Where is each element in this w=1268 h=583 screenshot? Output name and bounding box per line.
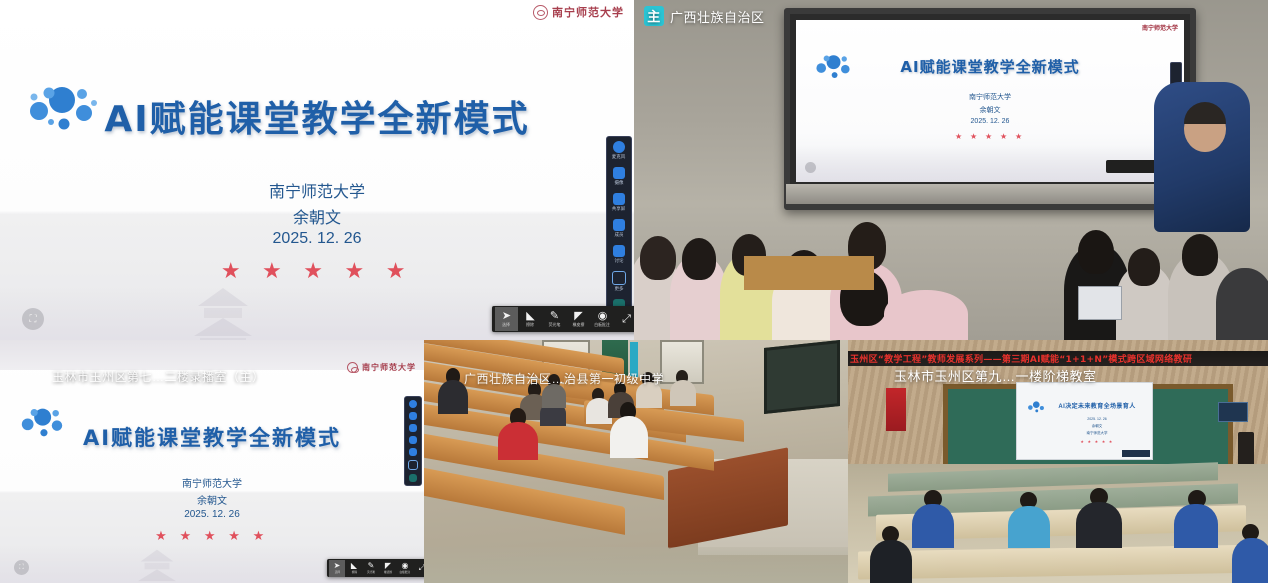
screen-dots-icon [1025, 399, 1047, 415]
record-icon: ◉ [402, 562, 409, 570]
classroom-tiers [848, 464, 1268, 583]
panel-remote-classroom-main[interactable]: 南宁师范大学 AI赋能课堂教学全新模式 南宁师范大学 余朝文 2025. 12.… [634, 0, 1268, 340]
seal-icon [347, 362, 358, 373]
rail-item-members[interactable]: 成员 [613, 219, 625, 238]
tool-cursor[interactable]: ➤ 选择 [495, 307, 518, 331]
seal-icon [533, 5, 548, 20]
audience-area [634, 208, 1268, 340]
highlighter-icon: ◤ [385, 562, 391, 570]
screen-slide-title: AI决定未来教育全场景育人 [1047, 401, 1147, 410]
tool-highlighter[interactable]: ◤ 橡皮擦 [567, 307, 590, 331]
rail-item-video[interactable] [409, 412, 417, 420]
video-icon [613, 167, 625, 179]
rail-item-mic[interactable] [409, 400, 417, 408]
equipment-box [1078, 286, 1122, 320]
panel-label-text: 玉林市玉州区第九…一楼阶梯教室 [894, 366, 1097, 385]
panel-main-presentation[interactable]: 南宁师范大学 AI赋能课堂教学全新模式 南宁师范大学 余朝文 2025. 12.… [0, 0, 634, 340]
presentation-slide: 南宁师范大学 AI赋能课堂教学全新模式 南宁师范大学 余朝文 2025. 12.… [0, 0, 634, 340]
tool-label: 橡皮擦 [384, 571, 392, 574]
list-icon [408, 460, 418, 470]
rail-item-more[interactable]: 更多 [612, 271, 626, 292]
share-icon [613, 193, 625, 205]
annotation-toolbar[interactable]: ➤ 选择 ◣ 擦除 ✎ 荧光笔 ◤ 橡皮擦 ◉ 白板批注 ⤢ [492, 306, 634, 332]
mirrored-stars: ★ ★ ★ ★ ★ [796, 132, 1184, 141]
university-logo-text: 南宁师范大学 [552, 4, 624, 20]
panel-recording-studio[interactable]: 南宁师范大学 AI赋能课堂教学全新模式 南宁师范大学 余朝文 2025. 12.… [0, 340, 424, 583]
hall-blackboard [764, 340, 840, 414]
whiteboard-screen: 南宁师范大学 AI赋能课堂教学全新模式 南宁师范大学 余朝文 2025. 12.… [796, 20, 1184, 182]
interactive-whiteboard: 南宁师范大学 AI赋能课堂教学全新模式 南宁师范大学 余朝文 2025. 12.… [784, 8, 1196, 210]
rail-label: 更多 [614, 285, 623, 291]
mirrored-camera-button [805, 162, 816, 173]
tool-label: 选择 [503, 323, 511, 327]
camera-round-button[interactable]: ⛶ [22, 308, 44, 330]
mic-icon [409, 400, 417, 408]
tool-label: 荧光笔 [549, 323, 561, 327]
tool-highlighter[interactable]: ◤ 橡皮擦 [380, 560, 396, 577]
studio-tool-rail[interactable] [404, 396, 422, 486]
classroom-desk [744, 256, 874, 290]
classroom-camera-monitor [1218, 402, 1248, 422]
screen-icon [613, 219, 625, 231]
tool-label: 擦除 [527, 323, 535, 327]
panel-label-tiered-classroom: 玉林市玉州区第九…一楼阶梯教室 [894, 366, 1097, 385]
screen-icon [409, 436, 417, 444]
rail-label: 成员 [614, 231, 623, 237]
video-wall: 南宁师范大学 AI赋能课堂教学全新模式 南宁师范大学 余朝文 2025. 12.… [0, 0, 1268, 583]
rail-label: 麦克风 [612, 153, 626, 159]
led-banner: 玉州区“教学工程”教师发展系列——第三期AI赋能“1+1+N”模式跨区域网络教研 [848, 351, 1268, 366]
cursor-icon: ➤ [334, 562, 341, 570]
exit-icon [409, 474, 417, 482]
studio-pagoda-icon [127, 547, 187, 583]
mirrored-date: 2025. 12. 26 [796, 118, 1184, 125]
share-icon [409, 424, 417, 432]
panel-label-remote-classroom: 主 广西壮族自治区 [644, 6, 765, 26]
screen-toolbar [1122, 450, 1150, 457]
screen-slide-presenter: 余朝文 [1047, 424, 1147, 429]
tool-label: 荧光笔 [367, 571, 375, 574]
mirrored-presenter: 余朝文 [796, 105, 1184, 115]
panel-tiered-classroom[interactable]: 玉州区“教学工程”教师发展系列——第三期AI赋能“1+1+N”模式跨区域网络教研… [848, 340, 1268, 583]
rail-item-share[interactable]: 共享屏 [611, 193, 626, 212]
mirrored-slide: 南宁师范大学 AI赋能课堂教学全新模式 南宁师范大学 余朝文 2025. 12.… [796, 20, 1184, 182]
studio-university-logo-text: 南宁师范大学 [362, 362, 416, 373]
tool-label: 白板批注 [400, 571, 411, 574]
chat-icon [409, 448, 417, 456]
panel-label-text: 玉林市玉州区第七…二楼录播室（主） [52, 368, 265, 385]
highlighter-icon: ◤ [574, 311, 582, 322]
tool-record[interactable]: ◉ 白板批注 [591, 307, 614, 331]
university-logo: 南宁师范大学 [533, 4, 624, 20]
tool-eraser[interactable]: ◣ 擦除 [346, 560, 362, 577]
studio-university-logo: 南宁师范大学 [347, 362, 416, 373]
rail-item-chat[interactable] [409, 448, 417, 456]
vertical-red-banner [886, 388, 906, 431]
studio-date: 2025. 12. 26 [0, 509, 424, 520]
rail-item-video[interactable]: 摄像 [613, 167, 625, 186]
rail-label: 讨论 [614, 257, 623, 263]
pen-icon: ✎ [368, 562, 375, 570]
hall-foreground-blur [424, 547, 848, 583]
screen-slide-organization: 南宁师范大学 [1047, 431, 1147, 436]
tool-pen[interactable]: ✎ 荧光笔 [543, 307, 566, 331]
screen-slide-date: 2025. 12. 26 [1047, 417, 1147, 421]
mirrored-university-logo: 南宁师范大学 [1142, 23, 1178, 32]
tool-label: 橡皮擦 [573, 323, 585, 327]
tool-expand[interactable]: ⤢ [615, 307, 634, 331]
chat-icon [613, 245, 625, 257]
rail-item-members[interactable] [409, 436, 417, 444]
mirrored-organization: 南宁师范大学 [796, 92, 1184, 102]
studio-stars: ★ ★ ★ ★ ★ [0, 528, 424, 544]
rail-item-share[interactable] [409, 424, 417, 432]
slide-date: 2025. 12. 26 [0, 230, 634, 248]
rail-item-chat[interactable]: 讨论 [613, 245, 625, 264]
rail-item-mic[interactable]: 麦克风 [611, 141, 626, 160]
panel-label-text: 广西壮族自治区 [670, 7, 765, 26]
screen-slide-stars: ★ ★ ★ ★ ★ [1047, 439, 1147, 444]
expand-icon: ⤢ [419, 564, 424, 572]
rail-label: 共享屏 [612, 205, 626, 211]
whiteboard-stand [786, 184, 1194, 204]
tool-cursor[interactable]: ➤ 选择 [329, 560, 345, 577]
eraser-icon: ◣ [526, 311, 534, 322]
slide-title: AI赋能课堂教学全新模式 [0, 90, 634, 142]
cursor-icon: ➤ [502, 311, 511, 322]
tool-record[interactable]: ◉ 白板批注 [397, 560, 413, 577]
tool-label: 选择 [334, 571, 339, 574]
expand-icon: ⤢ [622, 314, 631, 325]
panel-lecture-hall[interactable]: 广西壮族自治区…治县第一初级中学 [424, 340, 848, 583]
camera-icon: ⛶ [30, 314, 37, 325]
slide-stars: ★ ★ ★ ★ ★ [0, 258, 634, 284]
tool-label: 白板批注 [595, 323, 611, 327]
slide-organization: 南宁师范大学 [0, 178, 634, 202]
eraser-icon: ◣ [351, 562, 357, 570]
main-source-badge: 主 [644, 6, 664, 26]
classroom-projection-screen: AI决定未来教育全场景育人 2025. 12. 26 余朝文 南宁师范大学 ★ … [1016, 382, 1153, 460]
panel-label-lecture-hall: 广西壮族自治区…治县第一初级中学 [464, 370, 664, 387]
camera-icon: ⛶ [19, 564, 24, 572]
panel-label-text: 广西壮族自治区…治县第一初级中学 [464, 370, 664, 387]
studio-slide-title: AI赋能课堂教学全新模式 [0, 422, 424, 452]
record-icon: ◉ [598, 311, 608, 322]
tool-pen[interactable]: ✎ 荧光笔 [363, 560, 379, 577]
rail-label: 摄像 [614, 179, 623, 185]
slide-presenter: 余朝文 [0, 204, 634, 228]
pen-icon: ✎ [550, 311, 559, 322]
mic-icon [613, 141, 625, 153]
tool-expand[interactable]: ⤢ [414, 560, 424, 577]
list-icon [612, 271, 626, 285]
studio-annotation-toolbar[interactable]: ➤ 选择 ◣ 擦除 ✎ 荧光笔 ◤ 橡皮擦 ◉ 白板批注 ⤢ [327, 559, 424, 577]
video-icon [409, 412, 417, 420]
tool-label: 擦除 [351, 571, 356, 574]
meeting-tool-rail[interactable]: 麦克风 摄像 共享屏 成员 讨论 更多 [606, 136, 632, 316]
panel-label-recording-studio: 玉林市玉州区第七…二楼录播室（主） [52, 368, 265, 385]
rail-item-more[interactable] [408, 460, 418, 470]
tool-eraser[interactable]: ◣ 擦除 [519, 307, 542, 331]
pagoda-watermark-icon [178, 284, 268, 340]
mirrored-slide-title: AI赋能课堂教学全新模式 [796, 56, 1184, 77]
studio-camera-round-button[interactable]: ⛶ [14, 560, 29, 575]
studio-presenter: 余朝文 [0, 492, 424, 507]
studio-organization: 南宁师范大学 [0, 475, 424, 490]
rail-item-exit[interactable] [409, 474, 417, 482]
